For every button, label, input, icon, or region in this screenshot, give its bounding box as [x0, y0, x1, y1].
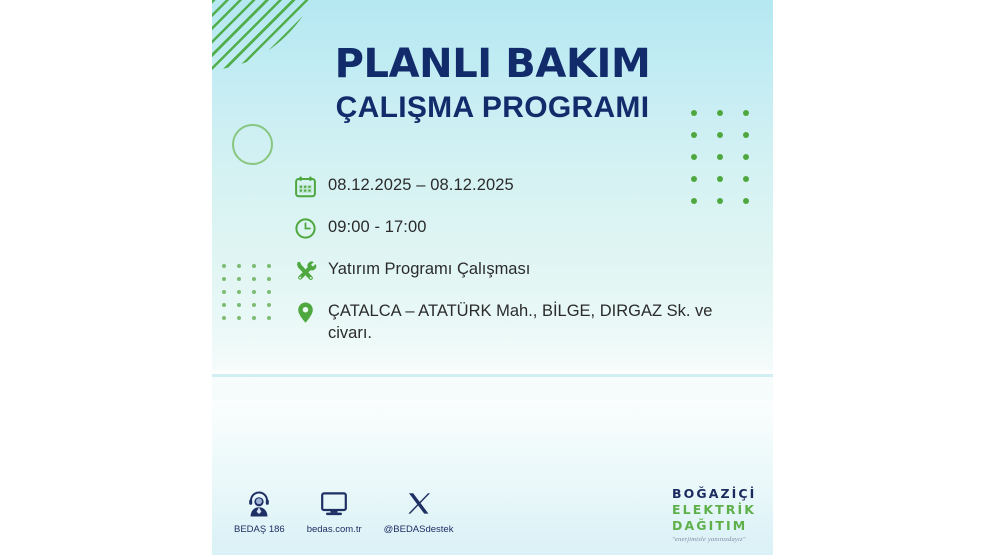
dot — [252, 277, 256, 281]
dot — [267, 277, 271, 281]
dot — [222, 264, 226, 268]
dot — [691, 132, 697, 138]
dot — [691, 154, 697, 160]
dot — [237, 264, 241, 268]
dot — [222, 277, 226, 281]
contact-label-x-account: @BEDASdestek — [384, 524, 454, 535]
dot — [267, 290, 271, 294]
decorative-divider-line — [212, 374, 773, 377]
brand-logo-line-bogazici: BOĞAZİÇİ — [672, 486, 767, 502]
dot — [743, 154, 749, 160]
dot — [237, 303, 241, 307]
detail-row-date: 08.12.2025 – 08.12.2025 — [294, 172, 764, 200]
dot — [267, 264, 271, 268]
poster-heading-block: PLANLI BAKIM ÇALIŞMA PROGRAMI — [212, 44, 773, 125]
maintenance-announcement-poster: PLANLI BAKIM ÇALIŞMA PROGRAMI — [212, 0, 773, 555]
detail-text-date: 08.12.2025 – 08.12.2025 — [328, 172, 514, 196]
monitor-icon — [320, 488, 348, 518]
decorative-light-band — [212, 368, 773, 378]
contact-label-website: bedas.com.tr — [307, 524, 362, 535]
dot — [743, 132, 749, 138]
page-subtitle: ÇALIŞMA PROGRAMI — [212, 91, 773, 125]
brand-tagline: "enerjimizle yanınızdayız" — [672, 536, 767, 543]
dot — [267, 303, 271, 307]
support-agent-icon — [246, 488, 272, 518]
detail-text-location: ÇATALCA – ATATÜRK Mah., BİLGE, DIRGAZ Sk… — [328, 298, 738, 344]
dot — [222, 316, 226, 320]
dot — [222, 290, 226, 294]
dot-grid-left-decoration — [222, 264, 282, 329]
dot — [252, 316, 256, 320]
dot — [237, 277, 241, 281]
dot — [717, 132, 723, 138]
dot — [717, 154, 723, 160]
clock-icon — [294, 214, 328, 242]
calendar-icon — [294, 172, 328, 200]
dot — [252, 290, 256, 294]
location-pin-icon — [294, 298, 328, 326]
contact-website[interactable]: bedas.com.tr — [307, 488, 362, 535]
contact-x-account[interactable]: @BEDASdestek — [384, 488, 454, 535]
page-title: PLANLI BAKIM — [212, 44, 773, 86]
tools-icon — [294, 256, 328, 284]
detail-text-time: 09:00 - 17:00 — [328, 214, 427, 238]
circle-outline-decoration — [232, 124, 273, 165]
footer-contact-bar: BEDAŞ 186 bedas.com.tr — [234, 488, 454, 535]
dot — [252, 303, 256, 307]
dot — [222, 303, 226, 307]
dot — [252, 264, 256, 268]
decorative-glow-upper — [212, 400, 773, 460]
dot — [237, 316, 241, 320]
brand-logo-line-dagitim: DAĞITIM — [672, 518, 767, 534]
brand-logo: BOĞAZİÇİ ELEKTRİK DAĞITIM "enerjimizle y… — [672, 486, 767, 543]
detail-row-time: 09:00 - 17:00 — [294, 214, 764, 242]
maintenance-details-list: 08.12.2025 – 08.12.2025 09:00 - 17:00 — [294, 172, 764, 344]
contact-call-center[interactable]: BEDAŞ 186 — [234, 488, 285, 535]
contact-label-call-center: BEDAŞ 186 — [234, 524, 285, 535]
dot — [237, 290, 241, 294]
detail-text-work-type: Yatırım Programı Çalışması — [328, 256, 530, 280]
detail-row-location: ÇATALCA – ATATÜRK Mah., BİLGE, DIRGAZ Sk… — [294, 298, 764, 344]
dot — [267, 316, 271, 320]
screenshot-canvas: PLANLI BAKIM ÇALIŞMA PROGRAMI — [0, 0, 986, 555]
x-logo-icon — [407, 488, 431, 518]
detail-row-work-type: Yatırım Programı Çalışması — [294, 256, 764, 284]
brand-logo-line-elektrik: ELEKTRİK — [672, 502, 767, 518]
